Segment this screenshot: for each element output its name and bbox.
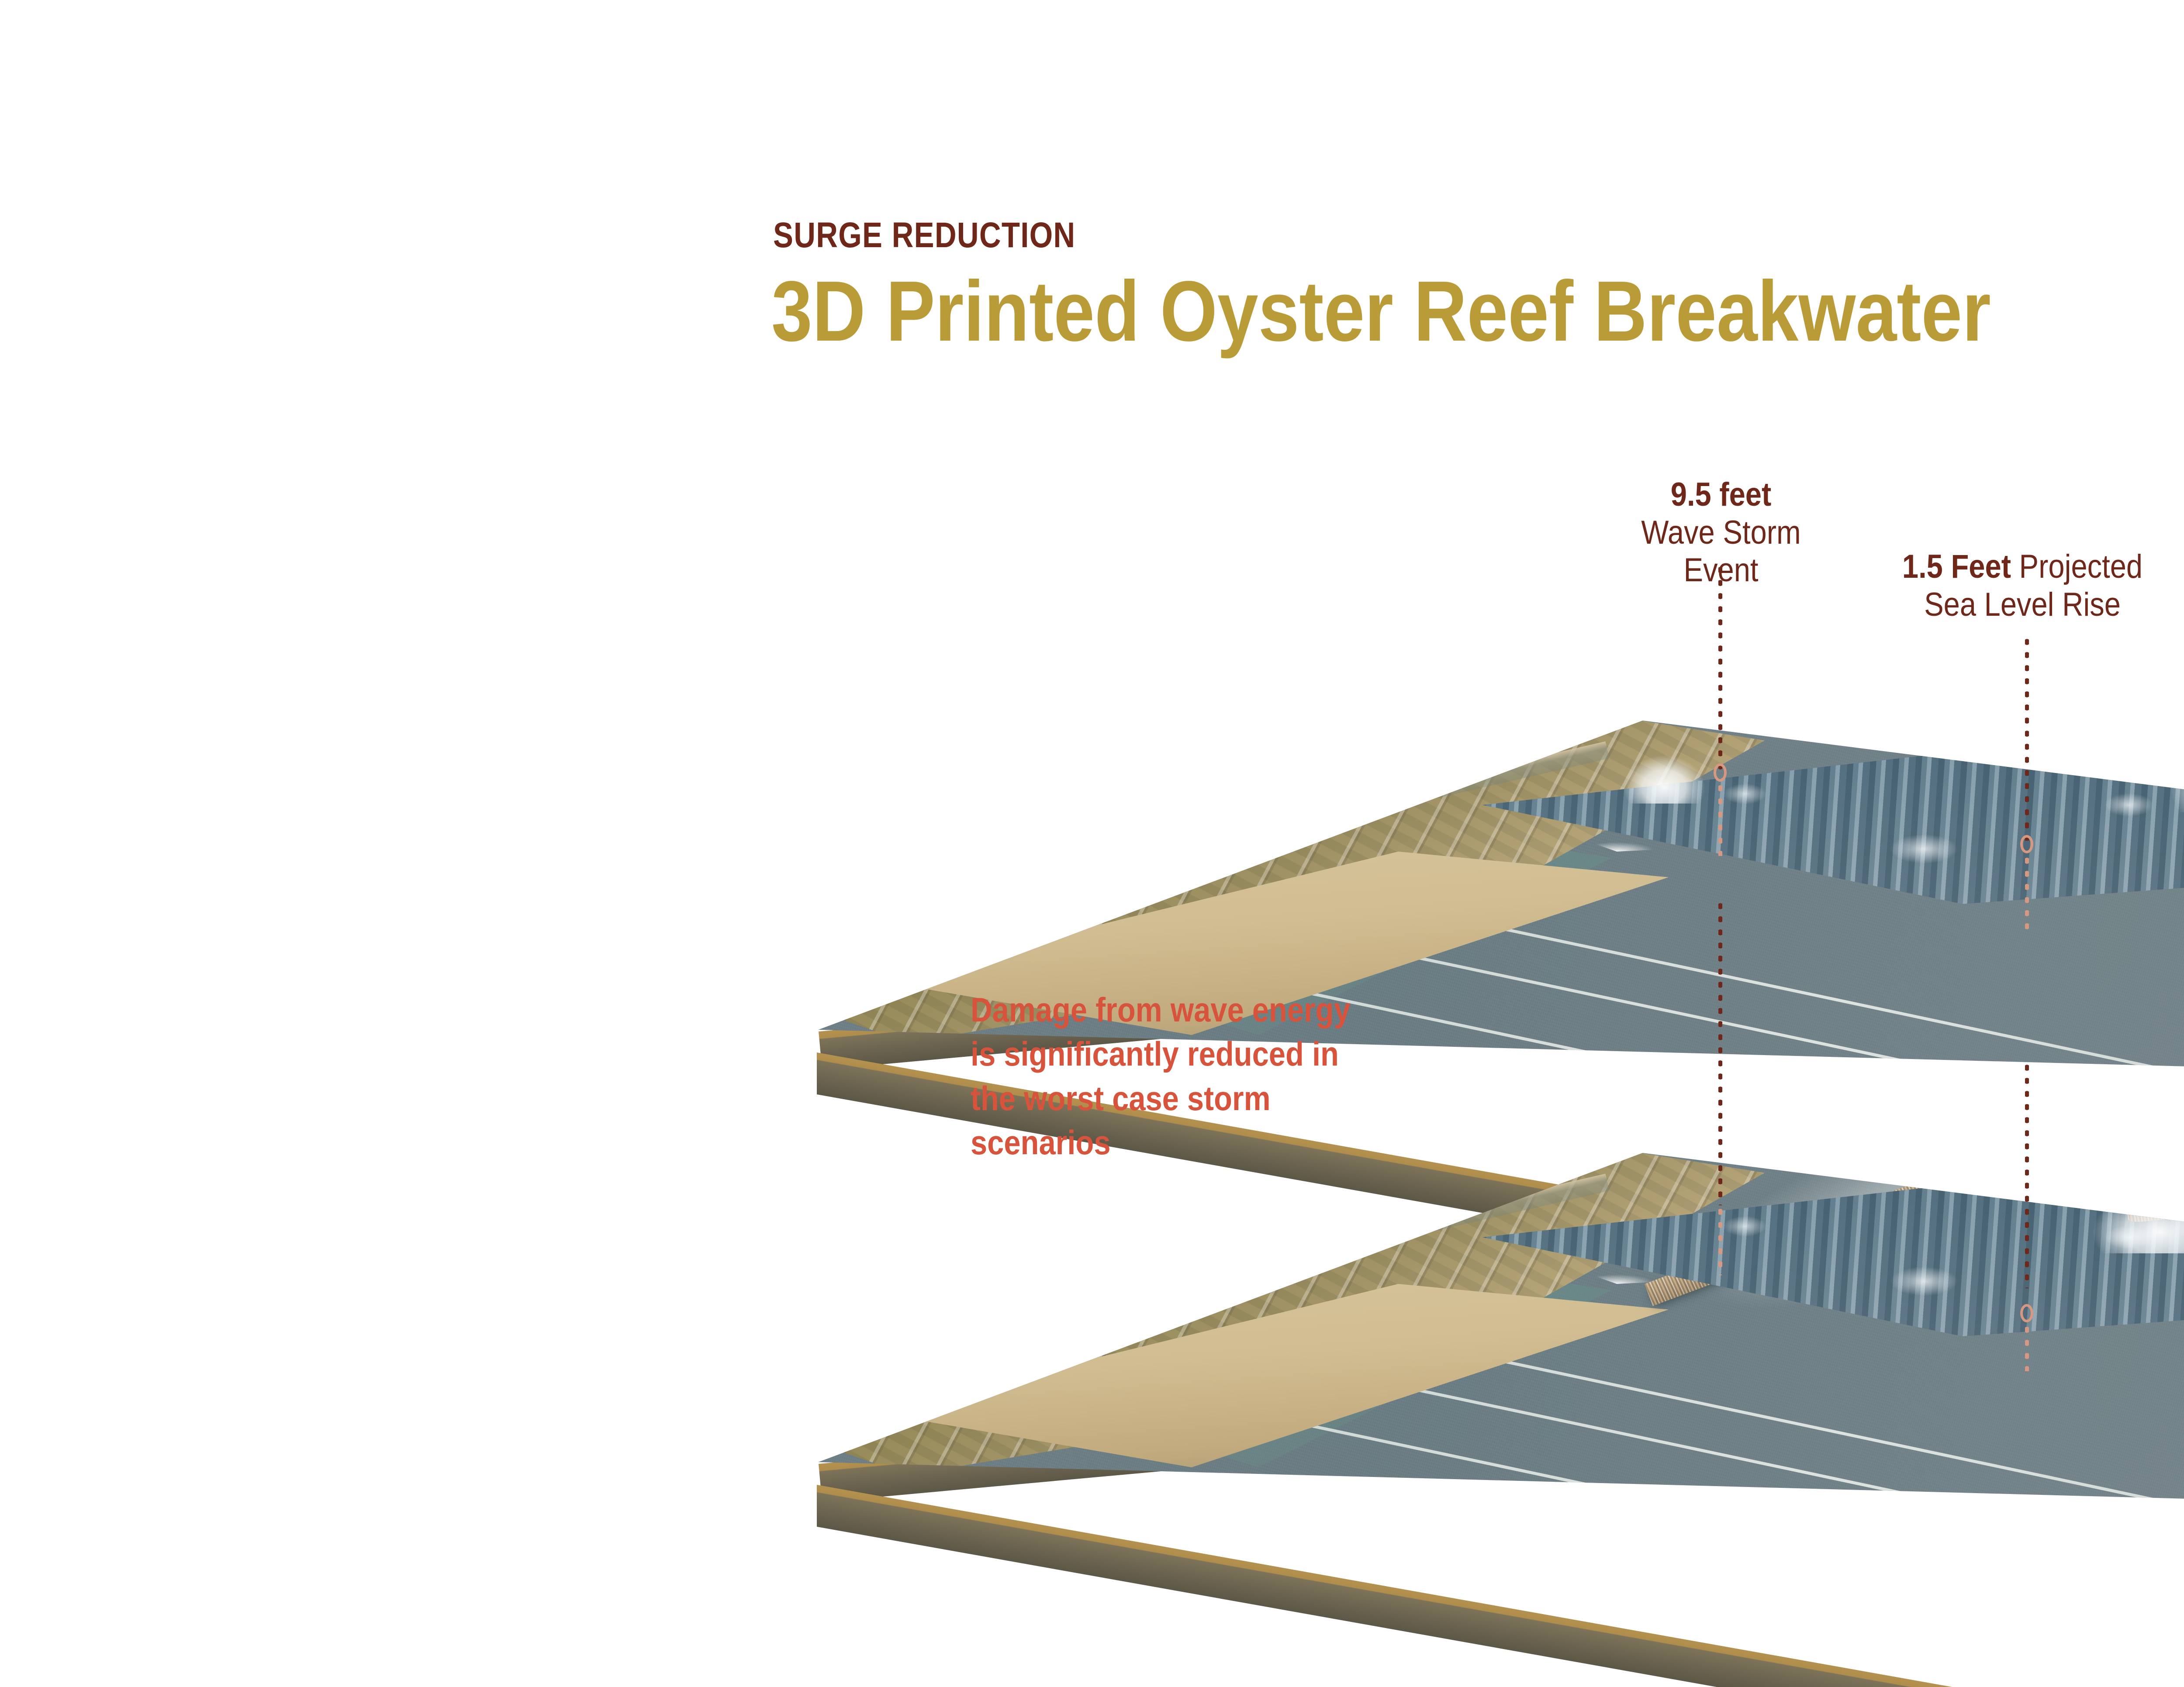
callout-slr-line1: 1.5 Feet Projected <box>1876 548 2169 586</box>
wave-splash-plume-secondary <box>1621 729 1708 804</box>
callout-sea-level-rise: 1.5 Feet Projected Sea Level Rise <box>1876 548 2169 624</box>
measure-line-wave-storm-panel2-upper <box>1718 900 1722 1205</box>
panel-breakwater-intervention <box>812 1153 2184 1594</box>
terrain-deck <box>812 1153 2184 1502</box>
measure-line-wave-storm-lower <box>1718 782 1722 856</box>
callout-wave-storm-value: 9.5 feet <box>1590 476 1852 514</box>
wave-splash-plume <box>2167 721 2184 812</box>
callout-slr-line2: Sea Level Rise <box>1876 586 2169 624</box>
measure-marker-slr-panel2 <box>2020 1304 2033 1322</box>
breakwater-splash-plume <box>2088 1157 2184 1253</box>
section-eyebrow: SURGE REDUCTION <box>773 215 1075 256</box>
annotation-damage-reduction: Damage from wave energy is significantly… <box>971 988 1355 1165</box>
measure-line-slr-panel2-upper <box>2025 1061 2029 1288</box>
measure-marker-wave-storm-top <box>1714 763 1727 782</box>
measure-line-slr-panel2-lower <box>2025 1323 2029 1371</box>
measure-line-wave-storm-panel2-lower <box>1718 1205 1722 1275</box>
callout-wave-storm-event: 9.5 feet Wave Storm Event <box>1590 476 1852 590</box>
callout-wave-storm-line2: Event <box>1590 552 1852 590</box>
infographic-canvas: SURGE REDUCTION 3D Printed Oyster Reef B… <box>0 0 2184 1687</box>
slab-edge-front <box>817 1485 2184 1687</box>
measure-marker-slr-top <box>2020 835 2033 853</box>
measure-line-slr-lower <box>2025 854 2029 933</box>
measure-line-slr-upper <box>2025 635 2029 841</box>
callout-wave-storm-line1: Wave Storm <box>1590 514 1852 552</box>
measure-line-wave-storm-upper <box>1718 563 1722 773</box>
callout-slr-value: 1.5 Feet <box>1902 548 2011 585</box>
callout-slr-suffix: Projected <box>2011 548 2143 585</box>
page-title: 3D Printed Oyster Reef Breakwater <box>771 266 1991 356</box>
